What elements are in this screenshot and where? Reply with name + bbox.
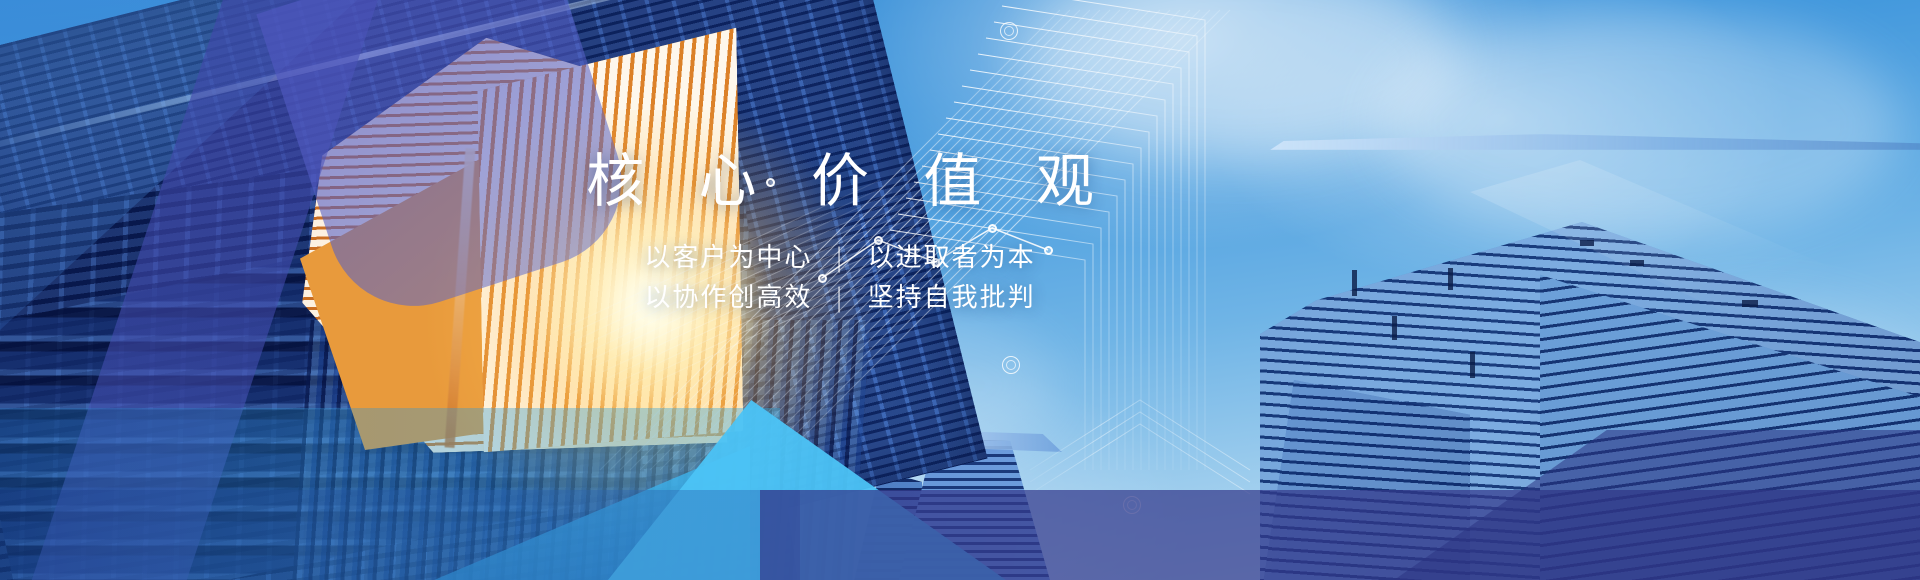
window	[1580, 240, 1594, 246]
text-block: 核 心 价 值 观 以客户为中心 | 以进取者为本 以协作创高效 | 坚持自我批…	[560, 150, 1120, 318]
window	[1392, 316, 1397, 340]
window	[1742, 300, 1758, 307]
subtitle-2-separator: |	[823, 278, 858, 318]
subtitle-1-separator: |	[823, 238, 858, 278]
window	[1448, 268, 1453, 290]
subtitle-1-left: 以客户为中心	[644, 243, 812, 273]
page-title: 核 心 价 值 观	[560, 150, 1120, 214]
subtitle-2-left: 以协作创高效	[644, 283, 812, 313]
window	[1630, 260, 1644, 266]
concentric-ring-icon	[1127, 500, 1137, 510]
subtitle-2-right: 坚持自我批判	[868, 283, 1036, 313]
subtitle-line-2: 以协作创高效 | 坚持自我批判	[560, 278, 1120, 318]
core-values-banner: 核 心 价 值 观 以客户为中心 | 以进取者为本 以协作创高效 | 坚持自我批…	[0, 0, 1920, 580]
subtitle-group: 以客户为中心 | 以进取者为本 以协作创高效 | 坚持自我批判	[560, 238, 1120, 319]
window	[1352, 270, 1357, 296]
subtitle-line-1: 以客户为中心 | 以进取者为本	[560, 238, 1120, 278]
concentric-ring-icon	[1006, 360, 1016, 370]
concentric-ring-icon	[1004, 26, 1014, 36]
window	[1470, 352, 1475, 378]
subtitle-1-right: 以进取者为本	[868, 243, 1036, 273]
